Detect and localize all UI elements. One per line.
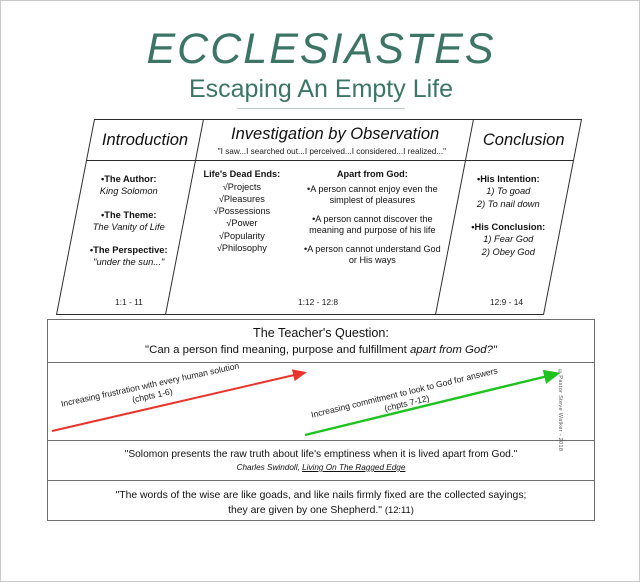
conclusion-group: •His Intention: 1) To goad 2) To nail do… (459, 173, 558, 210)
ecclesiastes-chart-page: ECCLESIASTES Escaping An Empty Life Intr… (0, 0, 640, 582)
title-divider (237, 108, 405, 109)
progression-arrows-box: Increasing frustration with every human … (47, 363, 595, 441)
intro-group: •The Perspective: "under the sun..." (79, 244, 179, 269)
scripture-verse-box: "The words of the wise are like goads, a… (47, 481, 595, 521)
apart-from-god-list: Apart from God: •A person cannot enjoy e… (299, 167, 445, 314)
question-heading: The Teacher's Question: (48, 320, 594, 340)
intro-group: •The Author: King Solomon (79, 173, 179, 198)
reference-conclusion: 12:9 - 14 (451, 293, 562, 311)
copyright-notice: ©Pastor Steve Walker - 2018 (557, 369, 563, 451)
swindoll-quote-box: "Solomon presents the raw truth about li… (47, 441, 595, 481)
list-item: √Philosophy (184, 242, 299, 254)
verse-line-1: "The words of the wise are like goads, a… (48, 481, 594, 503)
list-item: √Power (184, 217, 299, 229)
list-item: √Pleasures (184, 193, 299, 205)
cell-investigation: Life's Dead Ends: √Projects √Pleasures √… (165, 161, 465, 314)
reference-investigation: 1:12 - 12:8 (181, 293, 454, 311)
swindoll-attribution: Charles Swindoll, Living On The Ragged E… (48, 460, 594, 472)
list-item: √Projects (184, 181, 299, 193)
table-header-row: Introduction Investigation by Observatio… (86, 119, 582, 161)
header-investigation: Investigation by Observation "I saw...I … (195, 120, 473, 160)
verse-line-2: they are given by one Shepherd." (12:11) (48, 503, 594, 518)
list-item: √Popularity (184, 230, 299, 242)
reference-introduction: 1:1 - 11 (73, 293, 184, 311)
question-text: "Can a person find meaning, purpose and … (48, 340, 594, 356)
list-item: •A person cannot enjoy even the simplest… (299, 184, 445, 207)
list-item: •A person cannot understand God or His w… (299, 244, 445, 267)
header-conclusion: Conclusion (465, 120, 581, 160)
dead-ends-list: Life's Dead Ends: √Projects √Pleasures √… (184, 167, 299, 314)
reference-row: 1:1 - 11 1:12 - 12:8 12:9 - 14 (73, 293, 564, 311)
conclusion-group: •His Conclusion: 1) Fear God 2) Obey God (459, 221, 558, 258)
page-subtitle: Escaping An Empty Life (1, 74, 640, 105)
swindoll-quote-text: "Solomon presents the raw truth about li… (48, 441, 594, 460)
header-introduction: Introduction (87, 120, 203, 160)
teachers-question-box: The Teacher's Question: "Can a person fi… (47, 319, 595, 363)
list-item: •A person cannot discover the meaning an… (299, 214, 445, 237)
list-item: √Possessions (184, 205, 299, 217)
page-title: ECCLESIASTES (1, 27, 640, 72)
title-block: ECCLESIASTES Escaping An Empty Life (1, 27, 640, 109)
outline-table: Introduction Investigation by Observatio… (56, 119, 582, 315)
table-body-row: •The Author: King Solomon •The Theme: Th… (56, 161, 574, 315)
intro-group: •The Theme: The Vanity of Life (79, 209, 179, 234)
